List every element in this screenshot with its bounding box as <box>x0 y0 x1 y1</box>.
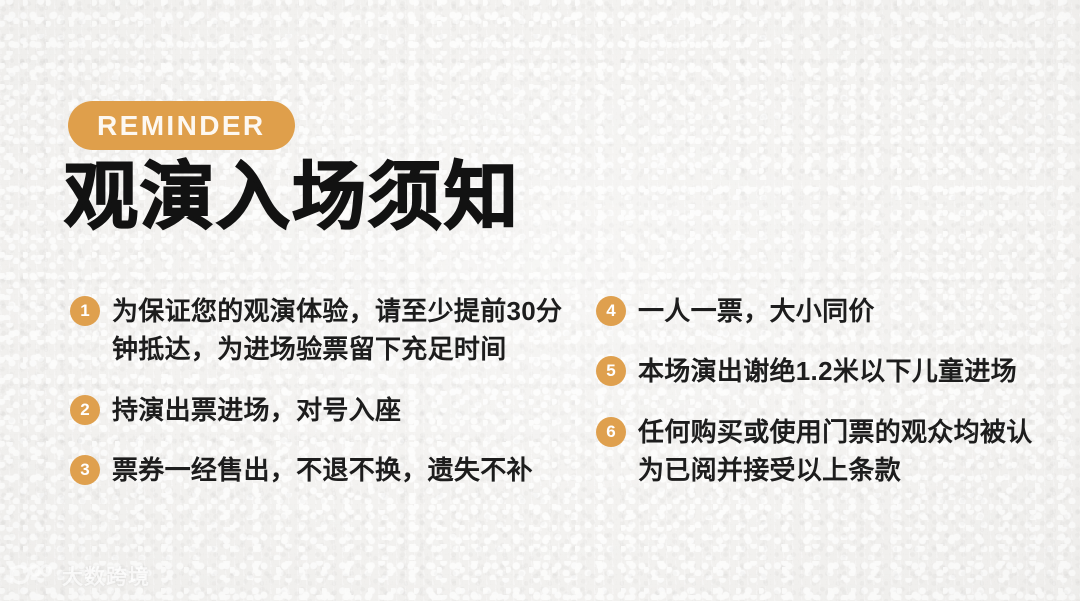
notice-text: 为保证您的观演体验，请至少提前30分钟抵达，为进场验票留下充足时间 <box>112 292 570 369</box>
watermark-label: 大数跨境 <box>62 567 150 588</box>
dashu-logo-icon <box>8 562 54 593</box>
notice-text: 本场演出谢绝1.2米以下儿童进场 <box>638 352 1056 390</box>
notice-number-badge: 5 <box>596 356 626 386</box>
page-title: 观演入场须知 <box>64 157 520 237</box>
notice-item: 6 任何购买或使用门票的观众均被认为已阅并接受以上条款 <box>596 413 1056 490</box>
notice-item: 5 本场演出谢绝1.2米以下儿童进场 <box>596 352 1056 390</box>
notice-column-right: 4 一人一票，大小同价 5 本场演出谢绝1.2米以下儿童进场 6 任何购买或使用… <box>596 292 1056 490</box>
notice-column-left: 1 为保证您的观演体验，请至少提前30分钟抵达，为进场验票留下充足时间 2 持演… <box>70 292 570 490</box>
notice-number-badge: 1 <box>70 296 100 326</box>
notice-item: 4 一人一票，大小同价 <box>596 292 1056 330</box>
reminder-badge: REMINDER <box>68 101 295 150</box>
notice-item: 2 持演出票进场，对号入座 <box>70 391 570 429</box>
notice-number-badge: 6 <box>596 417 626 447</box>
notice-item: 3 票券一经售出，不退不换，遗失不补 <box>70 451 570 489</box>
notice-item: 1 为保证您的观演体验，请至少提前30分钟抵达，为进场验票留下充足时间 <box>70 292 570 369</box>
notice-text: 一人一票，大小同价 <box>638 292 1056 330</box>
poster-content: REMINDER 观演入场须知 1 为保证您的观演体验，请至少提前30分钟抵达，… <box>0 0 1080 601</box>
reminder-badge-label: REMINDER <box>97 112 266 140</box>
notice-number-badge: 2 <box>70 395 100 425</box>
poster-canvas: REMINDER 观演入场须知 1 为保证您的观演体验，请至少提前30分钟抵达，… <box>0 0 1080 601</box>
notice-number-badge: 4 <box>596 296 626 326</box>
watermark: 大数跨境 <box>8 562 150 593</box>
notice-text: 票券一经售出，不退不换，遗失不补 <box>112 451 570 489</box>
notice-text: 持演出票进场，对号入座 <box>112 391 570 429</box>
notice-number-badge: 3 <box>70 455 100 485</box>
notice-text: 任何购买或使用门票的观众均被认为已阅并接受以上条款 <box>638 413 1056 490</box>
